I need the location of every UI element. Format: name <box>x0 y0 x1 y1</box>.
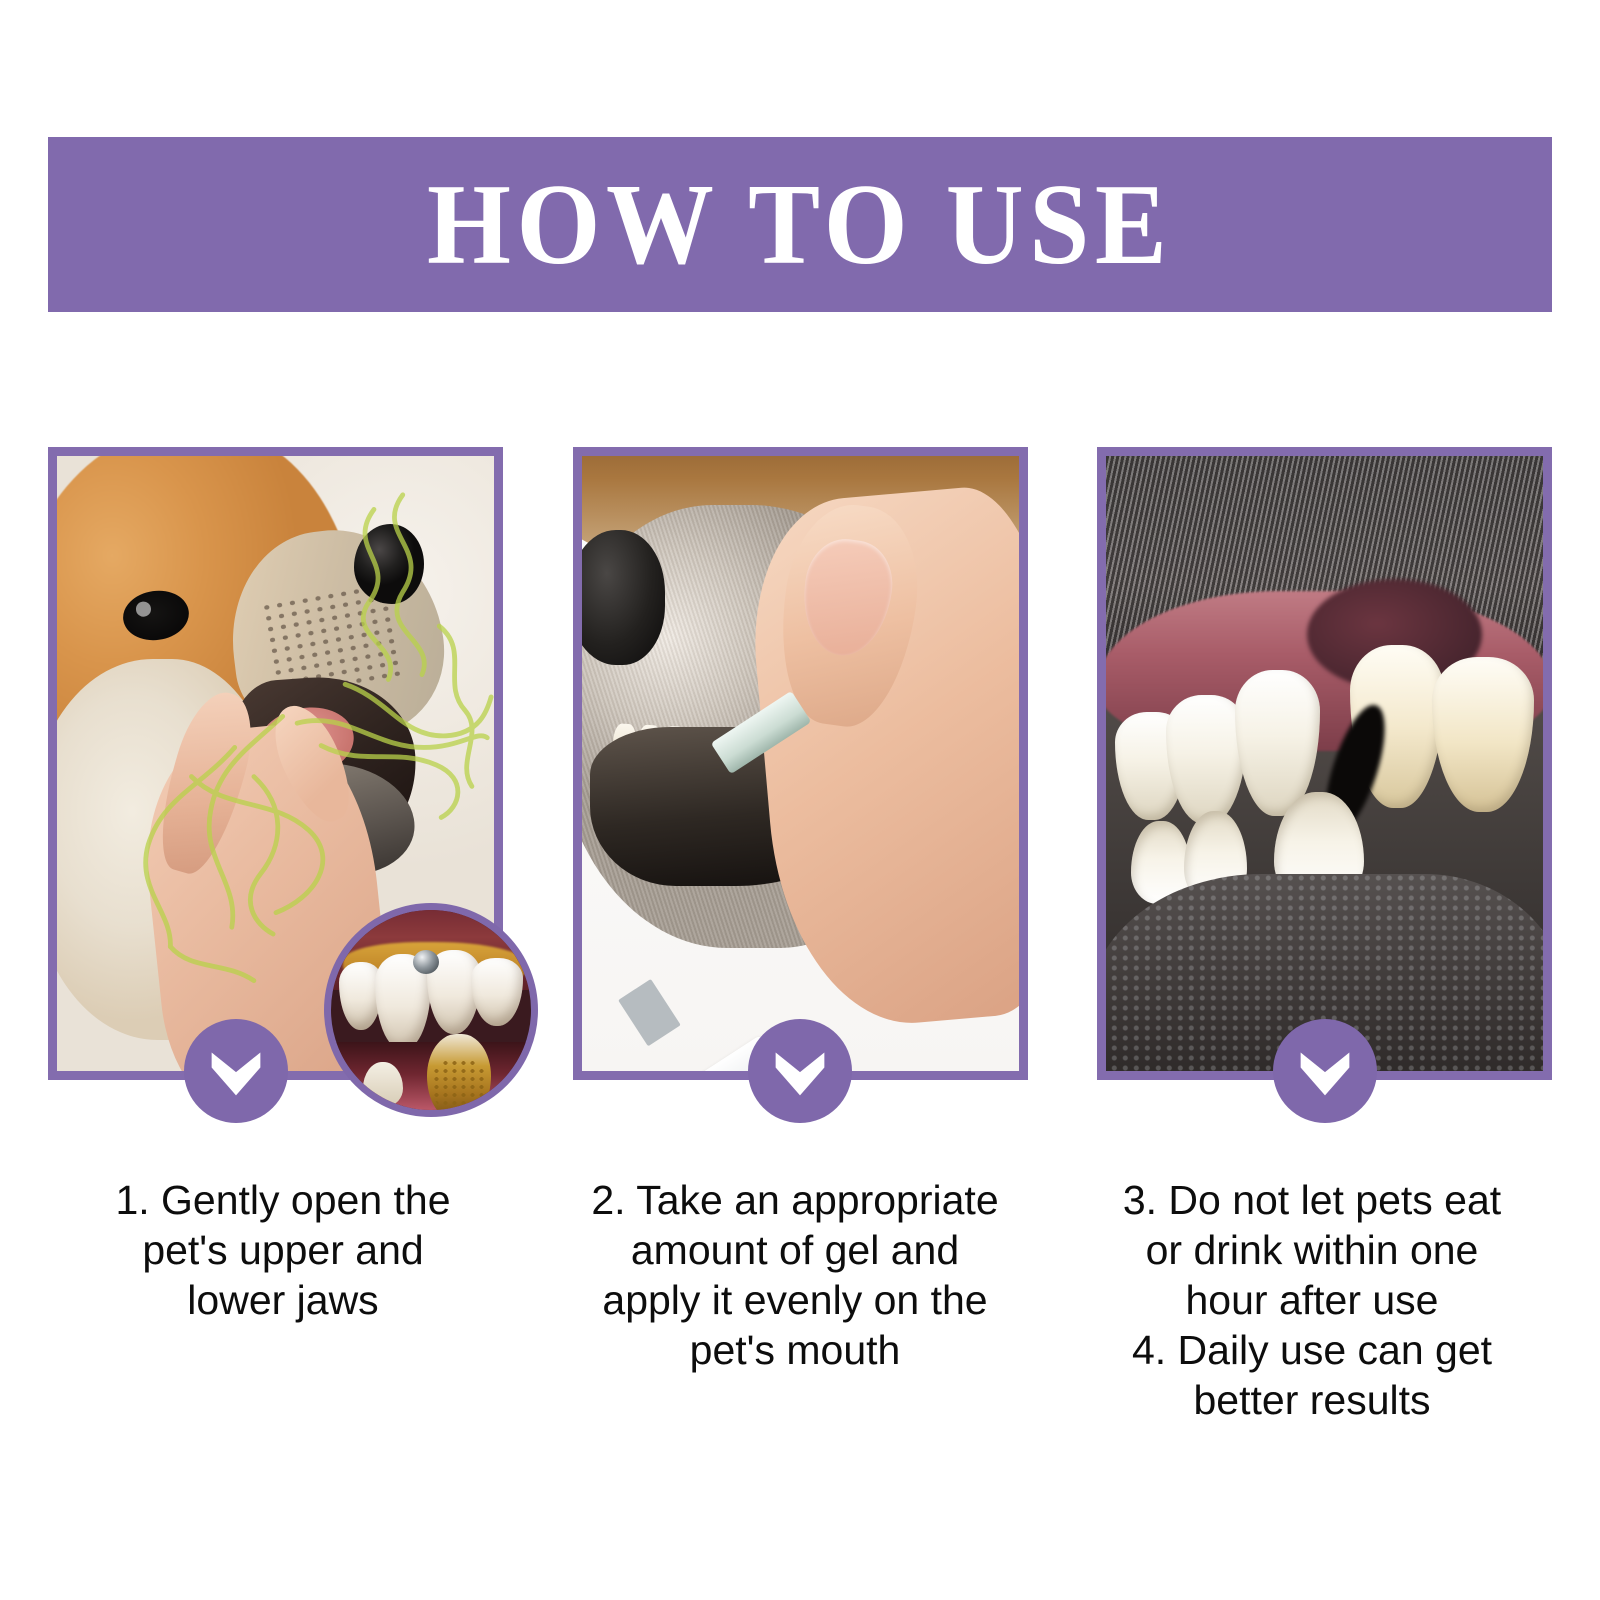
steps-caption-row: 1. Gently open the pet's upper and lower… <box>48 1175 1552 1425</box>
inset-lower-tooth <box>363 1062 403 1106</box>
inset-saliva-droplet <box>413 950 439 974</box>
step-1-photo-frame <box>48 447 503 1080</box>
step-2-chevron-badge <box>748 1019 852 1123</box>
chevron-down-icon <box>207 1042 265 1100</box>
inset-plaque-tooth <box>427 1034 491 1117</box>
tartar-closeup-inset <box>324 903 538 1117</box>
step-3-photo <box>1106 456 1543 1071</box>
chevron-down-icon <box>1296 1042 1354 1100</box>
step-3-photo-frame <box>1097 447 1552 1080</box>
dog-nose <box>354 524 424 604</box>
page-title: HOW TO USE <box>427 167 1172 283</box>
how-to-use-banner: HOW TO USE <box>48 137 1552 312</box>
dog-nose <box>582 530 665 665</box>
step-2-photo-frame <box>573 447 1028 1080</box>
step-2-photo <box>582 456 1019 1071</box>
step-2-caption: 2. Take an appropriate amount of gel and… <box>555 1175 1035 1425</box>
step-3-chevron-badge <box>1273 1019 1377 1123</box>
step-1-chevron-badge <box>184 1019 288 1123</box>
step-3-caption: 3. Do not let pets eat or drink within o… <box>1072 1175 1552 1425</box>
steps-photo-row <box>48 447 1552 1087</box>
inset-tooth <box>471 958 523 1026</box>
step-1-caption: 1. Gently open the pet's upper and lower… <box>48 1175 518 1425</box>
chevron-down-icon <box>771 1042 829 1100</box>
